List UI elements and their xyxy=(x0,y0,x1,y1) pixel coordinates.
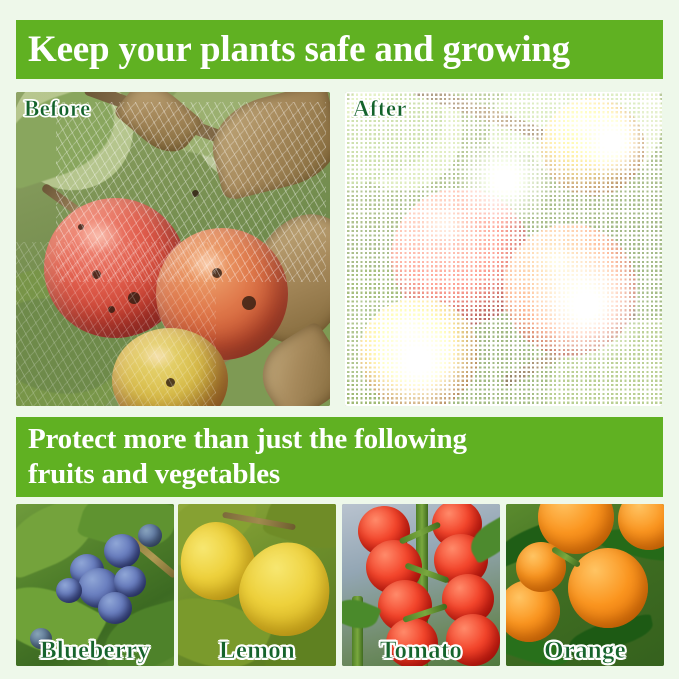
fruit-label-lemon: Lemon xyxy=(178,637,336,665)
fruit-label-orange: Orange xyxy=(506,637,664,665)
fruit-label-blueberry: Blueberry xyxy=(16,637,174,665)
blueberry-shape xyxy=(104,534,140,568)
pest-spot xyxy=(242,296,256,310)
pest-spot xyxy=(92,270,101,279)
headline-top-line-1: Keep your plants safe and growing xyxy=(28,28,651,72)
headline-banner-top: Keep your plants safe and growing xyxy=(16,20,663,79)
after-photo-image xyxy=(345,92,662,406)
pest-spot xyxy=(166,378,175,387)
fruit-tile-orange: Orange xyxy=(506,504,664,666)
pest-spot xyxy=(212,268,222,278)
headline-banner-middle: Protect more than just the following fru… xyxy=(16,417,663,497)
pest-spot xyxy=(108,306,115,313)
orange-shape xyxy=(568,548,648,628)
product-infographic: Keep your plants safe and growing xyxy=(0,0,679,679)
after-label: After xyxy=(353,96,407,122)
pest-spot xyxy=(78,224,84,230)
before-photo-panel: Before xyxy=(16,92,330,406)
apple-shape xyxy=(359,298,479,406)
apple-shape xyxy=(503,224,637,356)
blueberry-shape xyxy=(98,592,132,624)
pest-spot xyxy=(128,292,140,304)
before-label: Before xyxy=(24,96,91,122)
before-photo-image xyxy=(16,92,330,406)
apple-shape xyxy=(541,98,645,196)
fruit-label-tomato: Tomato xyxy=(342,637,500,665)
headline-middle-line-2: fruits and vegetables xyxy=(28,457,651,492)
fruit-tile-tomato: Tomato xyxy=(342,504,500,666)
pest-spot xyxy=(192,190,199,197)
headline-middle-line-1: Protect more than just the following xyxy=(28,422,651,457)
fruit-tile-lemon: Lemon xyxy=(178,504,336,666)
fruit-tile-blueberry: Blueberry xyxy=(16,504,174,666)
blueberry-shape xyxy=(138,524,162,547)
blueberry-shape xyxy=(56,578,82,603)
after-photo-panel: After xyxy=(345,92,662,406)
